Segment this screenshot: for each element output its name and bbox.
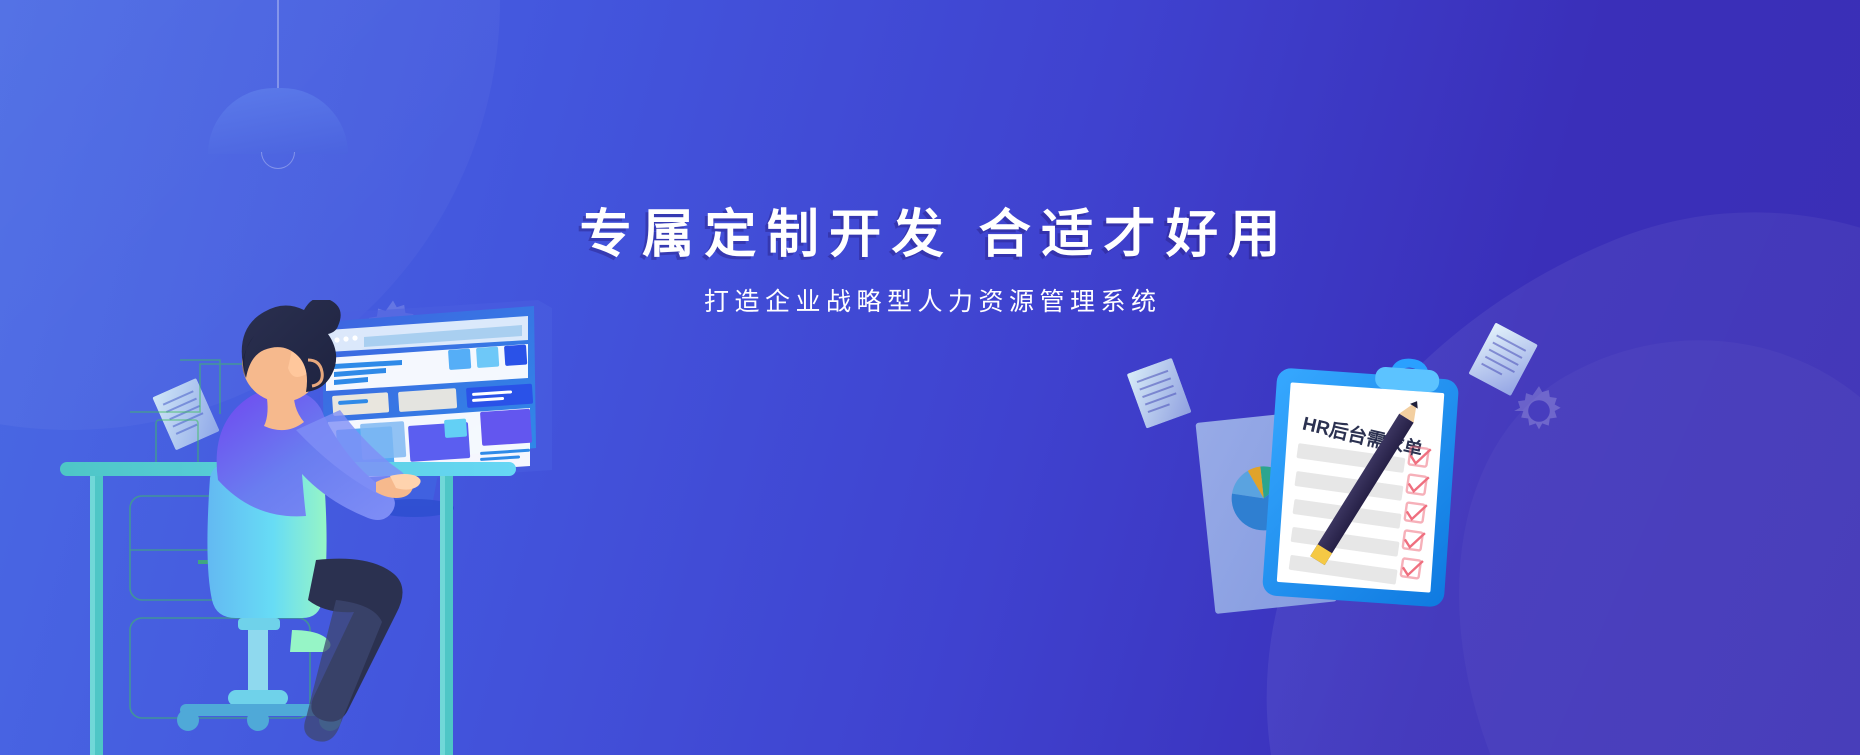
gear-right-icon [1512,384,1566,438]
lamp-shade [208,88,348,154]
lamp-bulb [261,152,295,169]
developer-at-desk-illustration [60,300,690,755]
hr-clipboard-illustration: HR后台需求单 [1185,325,1485,625]
pendant-lamp-icon [208,0,348,175]
document-middle-right-icon [1127,358,1194,434]
hero-banner: HR后台需求单 [0,0,1860,755]
lamp-cord [277,0,279,92]
page-title: 专属定制开发 合适才好用 [0,205,1860,266]
